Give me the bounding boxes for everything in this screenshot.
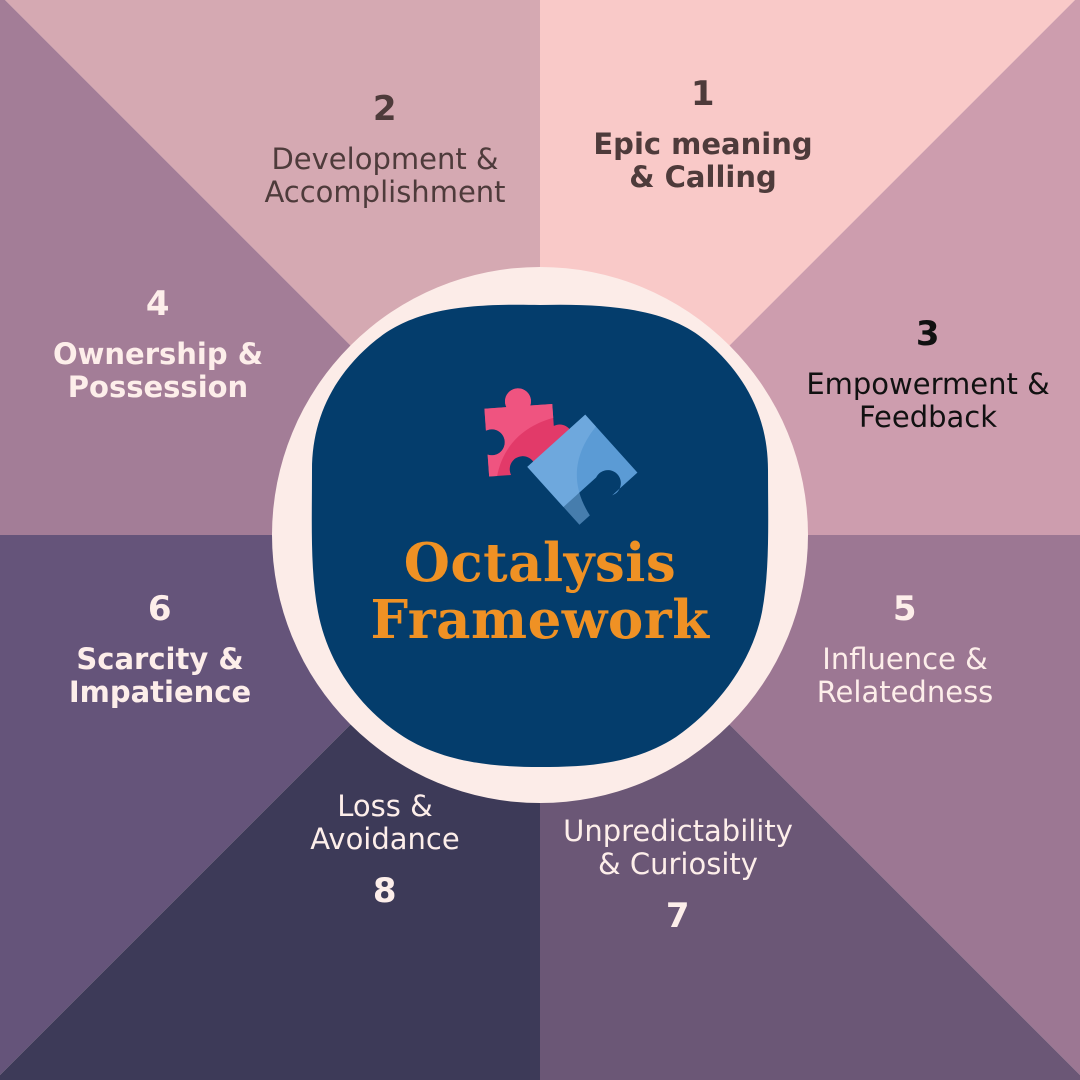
center-title-line1: Octalysis xyxy=(310,535,770,592)
center-title: Octalysis Framework xyxy=(310,535,770,649)
octalysis-framework-diagram: Octalysis Framework 1 Epic meaning & Cal… xyxy=(0,0,1080,1080)
puzzle-pieces-icon xyxy=(452,362,642,532)
center-title-line2: Framework xyxy=(310,592,770,649)
